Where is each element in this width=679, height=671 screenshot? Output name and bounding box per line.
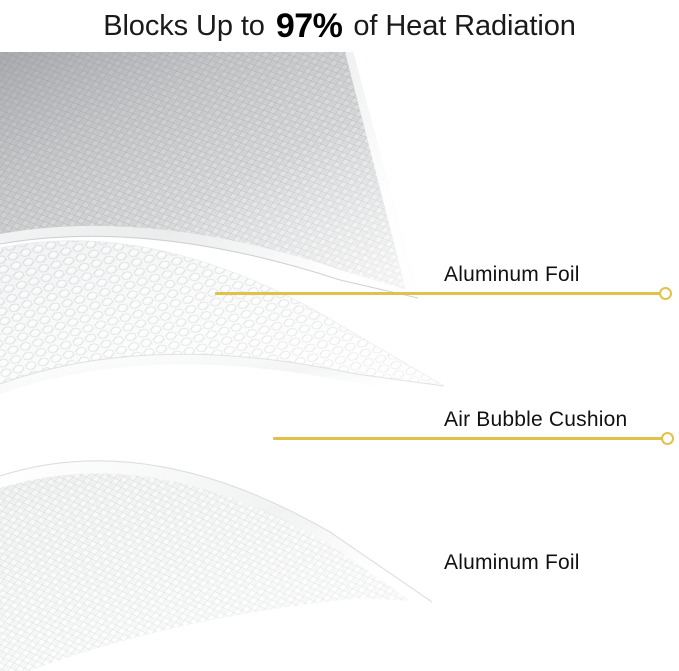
headline-banner: Blocks Up to 97% of Heat Radiation: [0, 0, 679, 52]
headline-suffix: of Heat Radiation: [353, 10, 575, 43]
bottom-foil-graphic: [0, 422, 480, 671]
leader-line-air-bubble-cushion: [273, 437, 667, 440]
headline-highlight-percentage: 97%: [273, 7, 346, 46]
material-layer-stack: [0, 52, 679, 671]
label-bottom-aluminum-foil: Aluminum Foil: [444, 551, 580, 575]
label-top-aluminum-foil: Aluminum Foil: [444, 263, 580, 287]
layer-bottom-aluminum-foil: [0, 422, 480, 671]
leader-line-top-aluminum-foil: [215, 292, 665, 295]
headline-prefix: Blocks Up to: [103, 10, 265, 43]
label-air-bubble-cushion: Air Bubble Cushion: [444, 408, 627, 432]
leader-marker-top-aluminum-foil: [659, 287, 672, 300]
leader-marker-air-bubble-cushion: [661, 432, 674, 445]
